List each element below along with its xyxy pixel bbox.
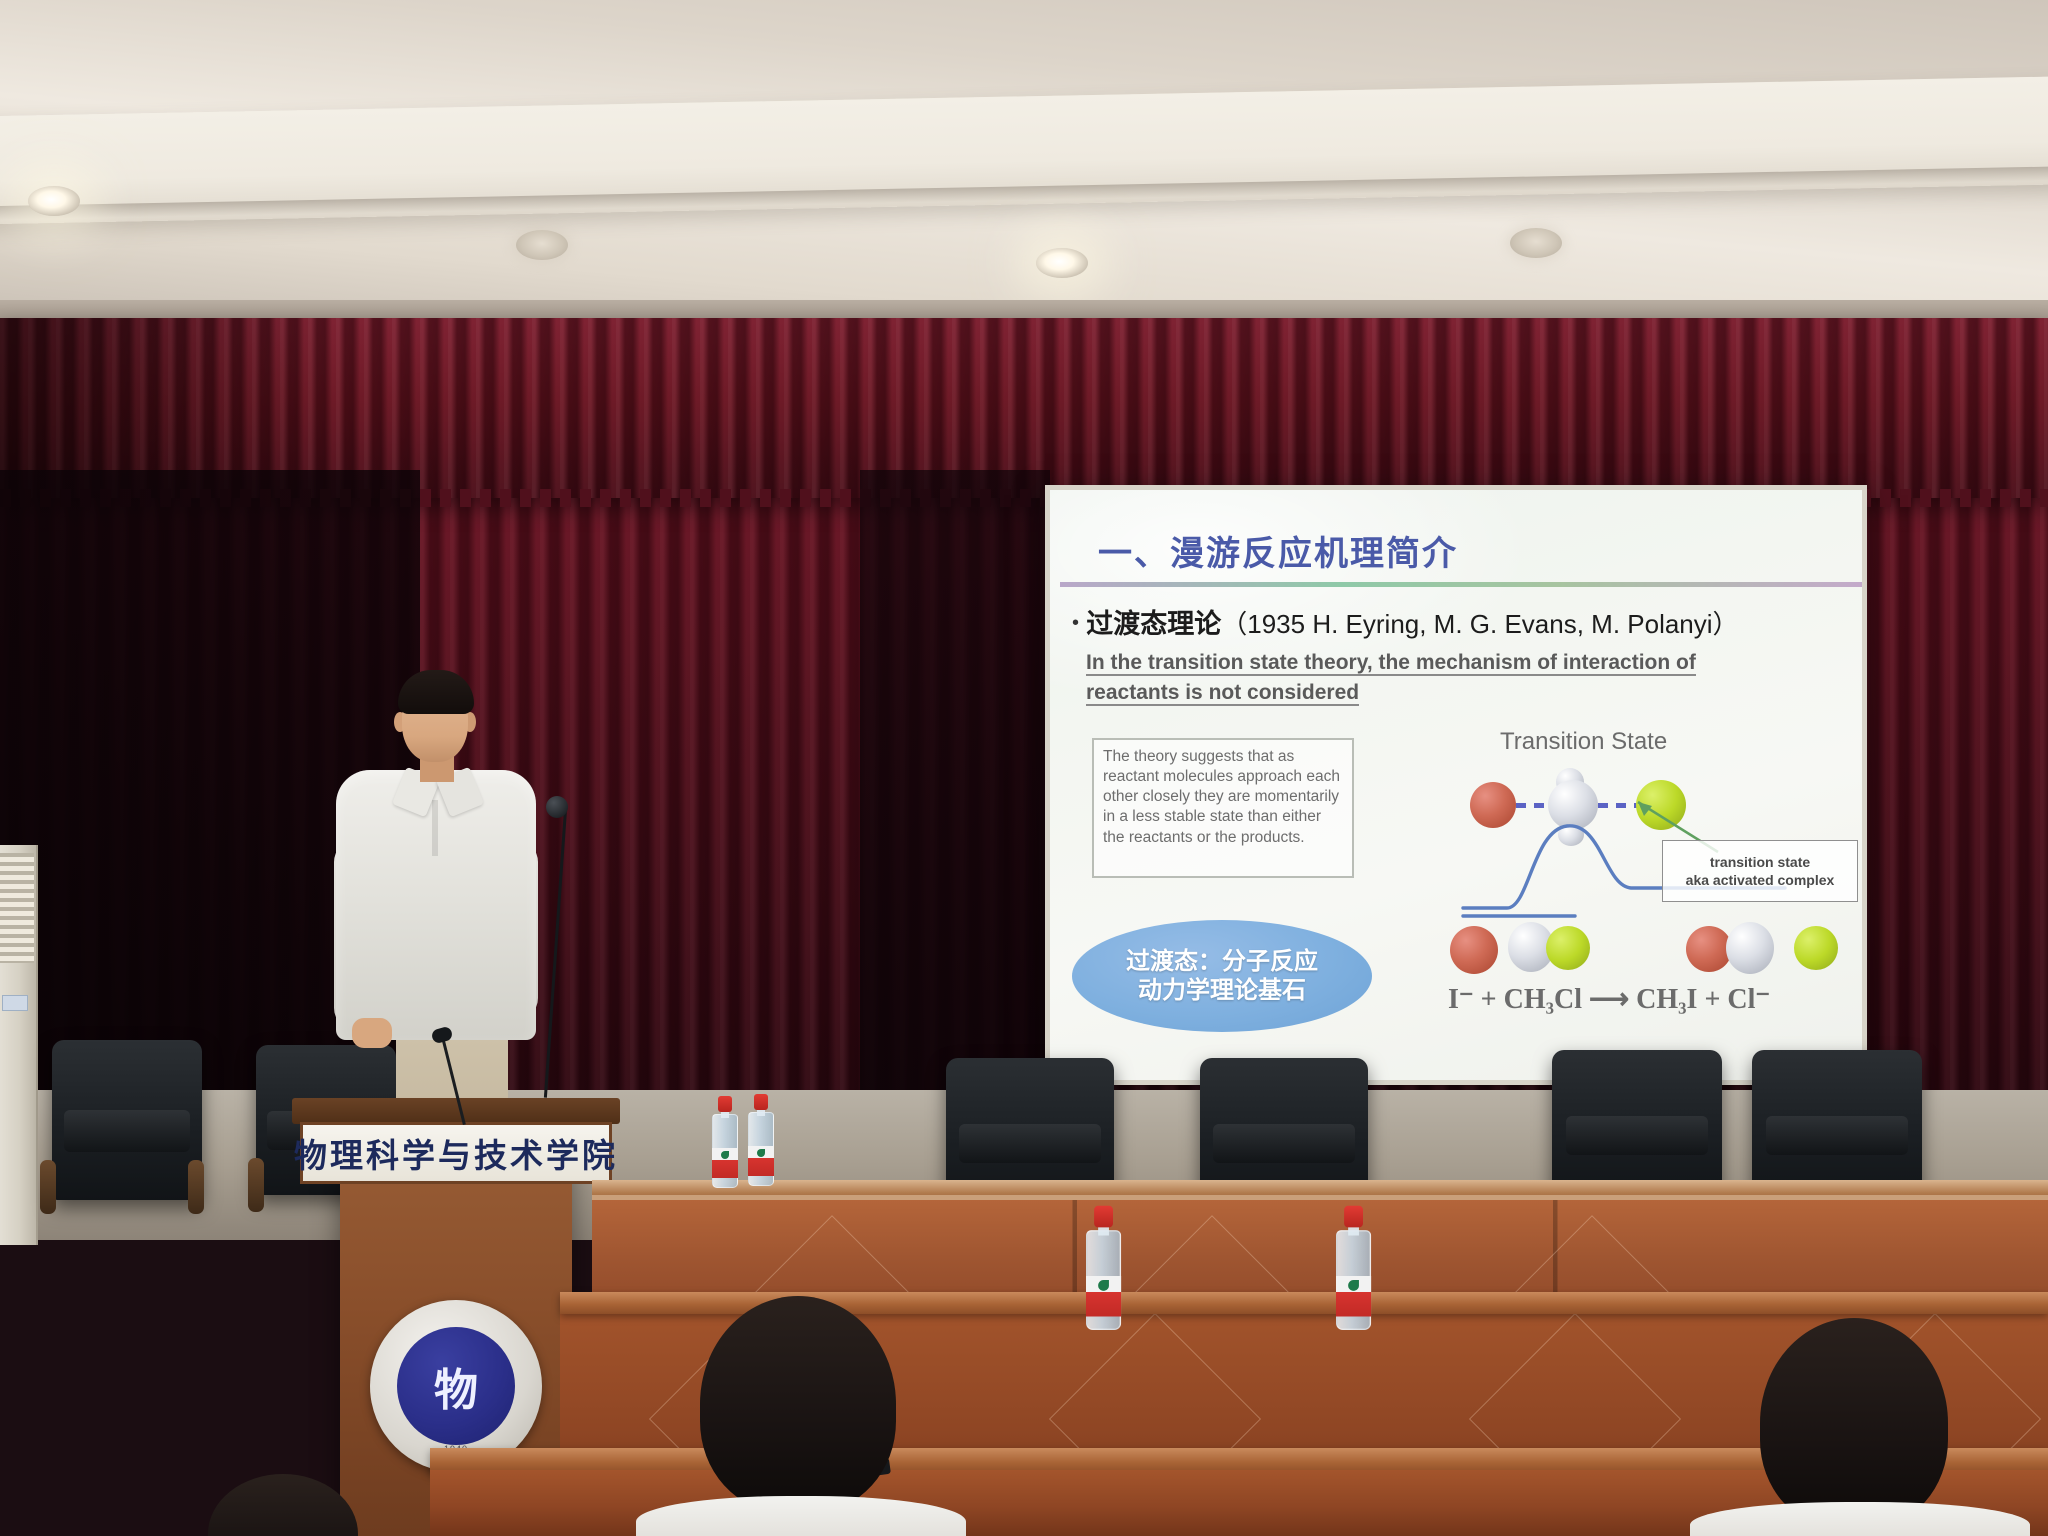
curtain-dark-panel-center [860, 470, 1050, 1130]
downlight-center [1036, 248, 1088, 278]
audience-shoulders [1690, 1502, 2030, 1536]
bottle-cap [718, 1096, 732, 1112]
slide-ellipse-line2: 动力学理论基石 [1126, 976, 1318, 1005]
ac-vent-grille-icon [0, 853, 34, 963]
downlight-right-a [1510, 228, 1562, 258]
ceiling [0, 0, 2048, 318]
podium-nameplate-text: 物理科学与技术学院 [294, 1129, 618, 1177]
bottle-label [1336, 1276, 1371, 1317]
audience-head [1760, 1318, 1948, 1528]
downlight-right-b [516, 230, 568, 260]
product-methyl-icon [1726, 922, 1774, 974]
slide-bullet-cn: 过渡态理论 [1086, 609, 1221, 639]
ac-badge-icon [2, 995, 28, 1011]
bullet-dot-icon: • [1072, 612, 1079, 634]
audience-shoulders [636, 1496, 966, 1536]
stage-chair [1752, 1050, 1922, 1200]
lecture-hall-photo: 一、漫游反应机理简介 • 过渡态理论（1935 H. Eyring, M. G.… [0, 0, 2048, 1536]
water-bottle [712, 1096, 738, 1188]
chair-armrest [248, 1158, 264, 1212]
podium-top-ledge [292, 1098, 620, 1124]
chair-armrest [40, 1160, 56, 1214]
bottle-label [1086, 1276, 1121, 1317]
reaction-equation: I⁻ + CH₃Cl ⟶ CH₃I + Cl⁻ [1448, 982, 1770, 1016]
transition-state-label: Transition State [1500, 728, 1667, 756]
slide-underlined-statement-text: In the transition state theory, the mech… [1086, 651, 1696, 706]
slide-underlined-statement: In the transition state theory, the mech… [1086, 648, 1786, 708]
slide-divider-rule [1060, 582, 1862, 587]
speaker-shirt-placket [432, 800, 438, 856]
product-chloride-icon [1794, 926, 1838, 970]
bottle-label [712, 1148, 738, 1178]
transition-state-callout: transition state aka activated complex [1662, 840, 1858, 902]
audience-head [700, 1296, 896, 1512]
slide-ellipse-text: 过渡态：分子反应 动力学理论基石 [1126, 947, 1318, 1006]
podium-emblem: 物 1940 [370, 1300, 542, 1472]
audience-head [208, 1474, 358, 1536]
callout-line1: transition state [1686, 853, 1835, 871]
bottle-cap [754, 1094, 768, 1110]
water-bottle [748, 1094, 774, 1186]
speaker-hand [352, 1018, 392, 1048]
bottle-cap [1094, 1206, 1113, 1228]
air-conditioner-unit [0, 845, 38, 1245]
reaction-molecules-row [1450, 918, 1850, 984]
chair-armrest [188, 1160, 204, 1214]
bottle-cap [1344, 1206, 1363, 1228]
microphone-head-icon [546, 796, 568, 818]
projected-slide: 一、漫游反应机理简介 • 过渡态理论（1935 H. Eyring, M. G.… [1050, 490, 1862, 1080]
reactant-iodide-icon [1450, 926, 1498, 974]
slide-title: 一、漫游反应机理简介 [1098, 526, 1458, 575]
slide-theory-textbox: The theory suggests that as reactant mol… [1092, 738, 1354, 878]
water-bottle [1086, 1206, 1121, 1330]
reactant-chloride-icon [1546, 926, 1590, 970]
emblem-monogram: 物 [397, 1327, 515, 1445]
slide-bullet-en: （1935 H. Eyring, M. G. Evans, M. Polanyi… [1221, 609, 1738, 639]
downlight-left [28, 186, 80, 216]
slide-highlight-ellipse: 过渡态：分子反应 动力学理论基石 [1072, 920, 1372, 1032]
water-bottle [1336, 1206, 1371, 1330]
stage-chair [1552, 1050, 1722, 1200]
projection-screen: 一、漫游反应机理简介 • 过渡态理论（1935 H. Eyring, M. G.… [1045, 485, 1867, 1085]
stage-chair [52, 1040, 202, 1200]
slide-bullet-line: • 过渡态理论（1935 H. Eyring, M. G. Evans, M. … [1072, 602, 1848, 641]
podium-nameplate: 物理科学与技术学院 [300, 1122, 612, 1184]
callout-line2: aka activated complex [1686, 871, 1835, 889]
slide-ellipse-line1: 过渡态：分子反应 [1126, 947, 1318, 976]
bottle-label [748, 1146, 774, 1176]
